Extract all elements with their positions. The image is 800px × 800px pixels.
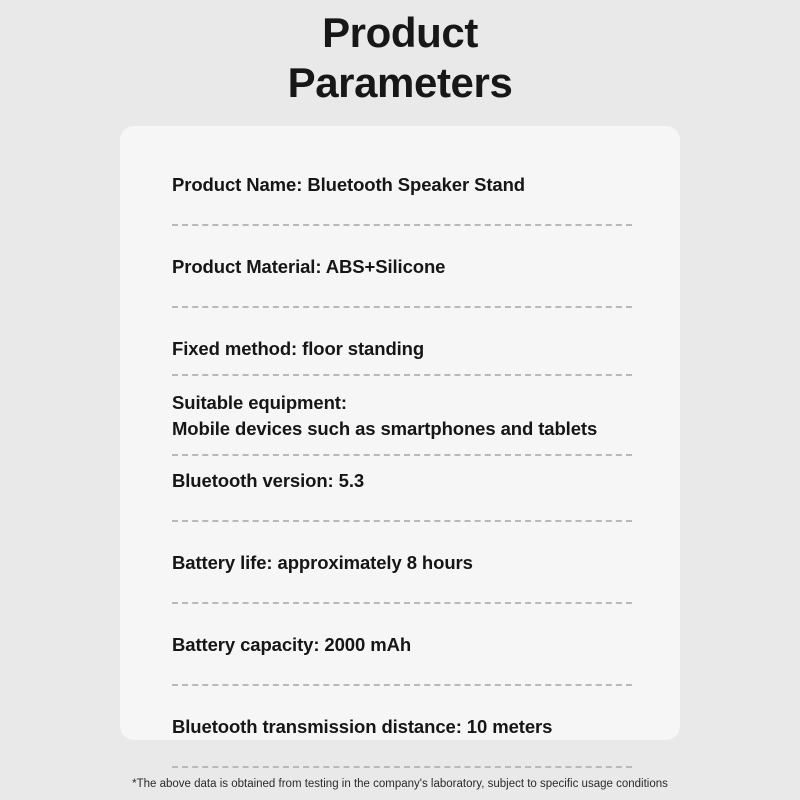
page-title: Product Parameters [0, 8, 800, 108]
spec-row-product-material: Product Material: ABS+Silicone [172, 254, 632, 280]
spacer [172, 456, 632, 468]
spacer [172, 280, 632, 306]
spec-row-bluetooth-version: Bluetooth version: 5.3 [172, 468, 632, 494]
spec-row-battery-life: Battery life: approximately 8 hours [172, 550, 632, 576]
spacer [172, 376, 632, 390]
spec-row-transmission-distance: Bluetooth transmission distance: 10 mete… [172, 714, 632, 740]
spec-row-product-name: Product Name: Bluetooth Speaker Stand [172, 172, 632, 198]
spec-row-label: Bluetooth version: 5.3 [172, 468, 632, 494]
spacer [172, 686, 632, 714]
spec-list: Product Name: Bluetooth Speaker Stand Pr… [172, 172, 632, 768]
spacer [172, 658, 632, 684]
spec-row-label: Fixed method: floor standing [172, 336, 632, 362]
product-parameters-page: Product Parameters Product Name: Bluetoo… [0, 0, 800, 800]
spec-divider [172, 766, 632, 768]
spec-row-label: Product Material: ABS+Silicone [172, 254, 632, 280]
spec-row-label: Battery capacity: 2000 mAh [172, 632, 632, 658]
spacer [172, 740, 632, 766]
footnote: *The above data is obtained from testing… [0, 776, 800, 792]
page-title-line-2: Parameters [0, 58, 800, 108]
spec-row-label: Suitable equipment: [172, 390, 632, 416]
spacer [172, 576, 632, 602]
spacer [172, 362, 632, 374]
spacer [172, 522, 632, 550]
spec-card: Product Name: Bluetooth Speaker Stand Pr… [120, 126, 680, 740]
spacer [172, 604, 632, 632]
spacer [172, 308, 632, 336]
spec-row-label: Bluetooth transmission distance: 10 mete… [172, 714, 632, 740]
spacer [172, 198, 632, 224]
spec-row-battery-capacity: Battery capacity: 2000 mAh [172, 632, 632, 658]
spacer [172, 226, 632, 254]
spec-row-suitable-equipment: Suitable equipment: Mobile devices such … [172, 390, 632, 442]
spec-row-label: Battery life: approximately 8 hours [172, 550, 632, 576]
page-title-line-1: Product [0, 8, 800, 58]
spec-row-fixed-method: Fixed method: floor standing [172, 336, 632, 362]
spacer [172, 494, 632, 520]
spec-row-label: Product Name: Bluetooth Speaker Stand [172, 172, 632, 198]
spacer [172, 442, 632, 454]
spec-row-label-secondary: Mobile devices such as smartphones and t… [172, 416, 632, 442]
